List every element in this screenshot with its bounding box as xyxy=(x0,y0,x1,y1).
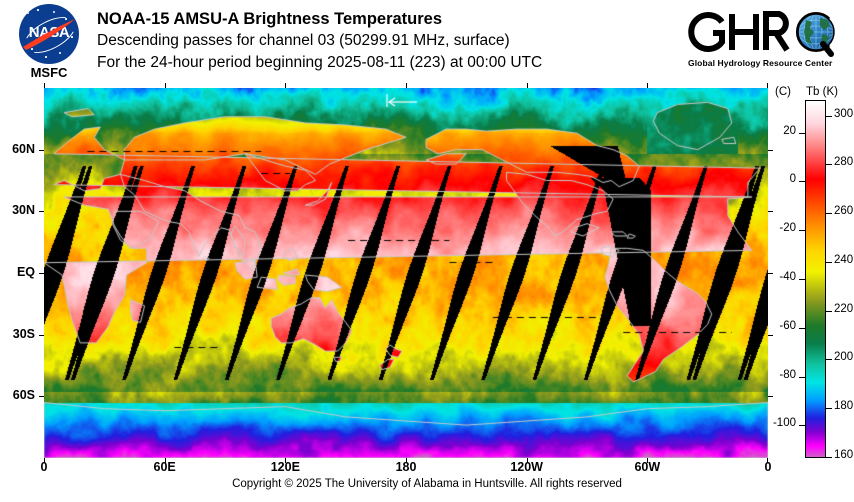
map-raster xyxy=(44,88,768,458)
colorbar-tick-celsius xyxy=(799,181,806,182)
y-axis-tick xyxy=(39,335,44,336)
brightness-temperature-map[interactable] xyxy=(44,88,768,458)
colorbar-tick-celsius xyxy=(799,230,806,231)
x-axis-tick-top xyxy=(285,83,286,88)
colorbar-label-celsius: -40 xyxy=(752,271,796,283)
title-block: NOAA-15 AMSU-A Brightness Temperatures D… xyxy=(97,8,542,74)
x-axis-label: 180 xyxy=(376,460,436,474)
page-title: NOAA-15 AMSU-A Brightness Temperatures xyxy=(97,8,542,30)
nasa-msfc-logo: NASA MSFC xyxy=(10,4,88,84)
colorbar-label-kelvin: 300 xyxy=(834,108,853,120)
y-axis-label: EQ xyxy=(0,265,35,279)
subtitle-channel: Descending passes for channel 03 (50299.… xyxy=(97,30,542,52)
colorbar-tick-kelvin xyxy=(825,213,832,214)
colorbar-tick-kelvin xyxy=(825,457,832,458)
y-axis-tick-right xyxy=(768,150,773,151)
colorbar-gradient xyxy=(806,101,825,457)
colorbar-label-kelvin: 200 xyxy=(834,351,853,363)
subtitle-period: For the 24-hour period beginning 2025-08… xyxy=(97,52,542,74)
colorbar-label-celsius: 0 xyxy=(752,173,796,185)
colorbar-tick-celsius xyxy=(799,133,806,134)
colorbar-tick-kelvin xyxy=(825,164,832,165)
y-axis-tick xyxy=(39,273,44,274)
colorbar-label-celsius: -100 xyxy=(752,417,796,429)
copyright-notice: Copyright © 2025 The University of Alaba… xyxy=(0,478,854,490)
colorbar-celsius-unit: (C) xyxy=(775,86,791,98)
colorbar-label-celsius: -20 xyxy=(752,222,796,234)
x-axis-tick-top xyxy=(406,83,407,88)
colorbar-label-kelvin: 220 xyxy=(834,303,853,315)
y-axis-tick-right xyxy=(768,211,773,212)
colorbar-label-kelvin: 280 xyxy=(834,156,853,168)
colorbar-tick-celsius xyxy=(799,425,806,426)
colorbar-label-kelvin: 240 xyxy=(834,254,853,266)
header: NASA MSFC NOAA-15 AMSU-A Brightness Temp… xyxy=(0,0,854,88)
x-axis-label: 60E xyxy=(135,460,195,474)
y-axis-tick xyxy=(39,150,44,151)
x-axis-tick-top xyxy=(767,83,768,88)
x-axis-label: 60W xyxy=(617,460,677,474)
nasa-center-label: MSFC xyxy=(10,65,88,80)
colorbar-label-celsius: -60 xyxy=(752,320,796,332)
colorbar-tick-celsius xyxy=(799,279,806,280)
x-axis-tick-top xyxy=(44,83,45,88)
x-axis-label: 0 xyxy=(738,460,798,474)
colorbar-tick-celsius xyxy=(799,328,806,329)
colorbar-label-kelvin: 260 xyxy=(834,205,853,217)
colorbar-tick-kelvin xyxy=(825,116,832,117)
y-axis-label: 60N xyxy=(0,142,35,156)
y-axis-tick xyxy=(39,211,44,212)
colorbar-tick-kelvin xyxy=(825,262,832,263)
ghrc-logo: Global Hydrology Resource Center xyxy=(686,8,846,80)
colorbar-tick-kelvin xyxy=(825,408,832,409)
x-axis-tick-top xyxy=(647,83,648,88)
colorbar-label-celsius: 20 xyxy=(752,125,796,137)
ghrc-subtitle: Global Hydrology Resource Center xyxy=(688,58,844,68)
colorbar[interactable] xyxy=(805,100,826,458)
x-axis-label: 120E xyxy=(255,460,315,474)
colorbar-tick-kelvin xyxy=(825,311,832,312)
colorbar-kelvin-unit: Tb (K) xyxy=(806,86,838,98)
colorbar-label-kelvin: 160 xyxy=(834,449,853,461)
x-axis-label: 120W xyxy=(497,460,557,474)
y-axis-tick-right xyxy=(768,335,773,336)
y-axis-tick xyxy=(39,396,44,397)
y-axis-tick-right xyxy=(768,396,773,397)
x-axis-tick-top xyxy=(527,83,528,88)
y-axis-label: 30S xyxy=(0,327,35,341)
colorbar-tick-kelvin xyxy=(825,359,832,360)
nasa-swoosh-icon xyxy=(21,16,77,52)
y-axis-label: 30N xyxy=(0,203,35,217)
colorbar-label-kelvin: 180 xyxy=(834,400,853,412)
y-axis-label: 60S xyxy=(0,388,35,402)
x-axis-tick-top xyxy=(165,83,166,88)
x-axis-label: 0 xyxy=(14,460,74,474)
nasa-meatball-icon: NASA xyxy=(19,4,79,64)
ghrc-acronym-icon xyxy=(686,8,846,58)
colorbar-tick-celsius xyxy=(799,377,806,378)
colorbar-label-celsius: -80 xyxy=(752,369,796,381)
